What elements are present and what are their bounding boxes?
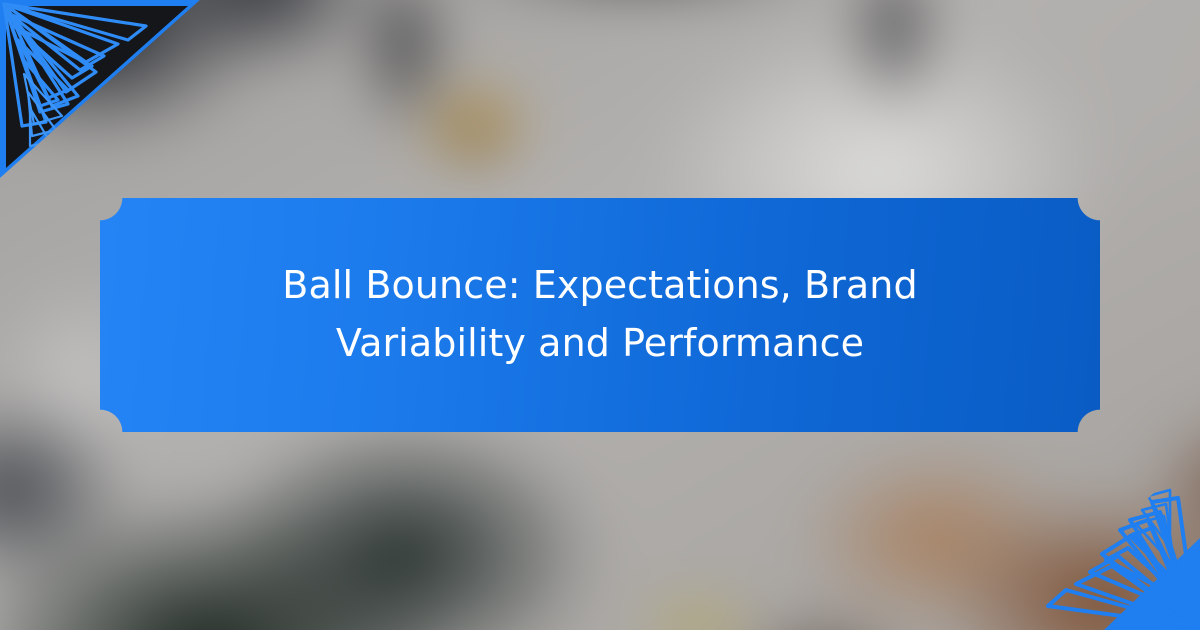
title-banner: Ball Bounce: Expectations, Brand Variabi… xyxy=(100,198,1100,432)
page-title: Ball Bounce: Expectations, Brand Variabi… xyxy=(220,257,980,373)
social-share-card: Ball Bounce: Expectations, Brand Variabi… xyxy=(0,0,1200,630)
title-banner-content: Ball Bounce: Expectations, Brand Variabi… xyxy=(100,198,1100,432)
